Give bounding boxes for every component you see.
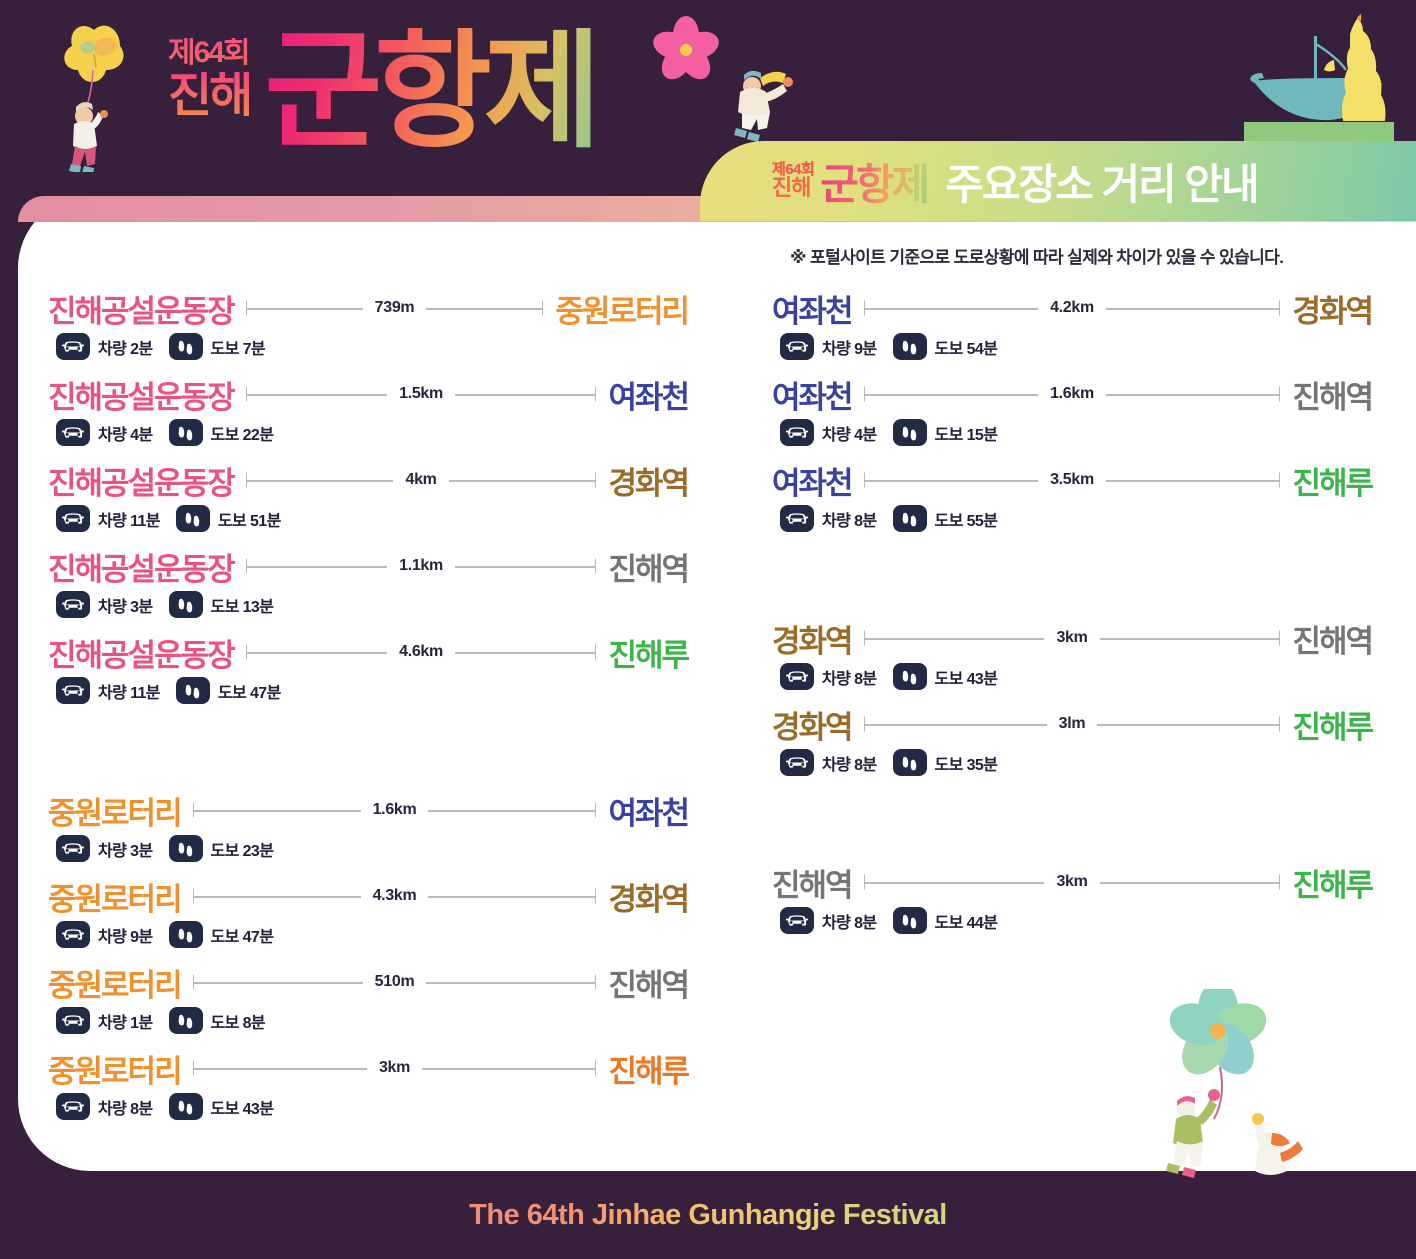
route-row: 여좌천4.2km경화역차량 9분도보 54분 — [772, 286, 1372, 372]
mode-car: 차량 8분 — [780, 505, 877, 532]
route-origin: 진해공설운동장 — [48, 630, 234, 675]
main-title: 제64회 진해 군항제 — [168, 28, 594, 156]
footprints-icon — [183, 511, 202, 527]
mode-car: 차량 1분 — [56, 1007, 153, 1034]
walk-duration: 도보 51분 — [218, 507, 281, 531]
car-badge — [56, 1007, 90, 1034]
route-origin: 중원로터리 — [48, 874, 181, 919]
route-distance: 3lm — [1047, 715, 1098, 733]
car-badge — [56, 1093, 90, 1120]
mode-car: 차량 11분 — [56, 677, 160, 704]
poster-root: 제64회 진해 군항제 제64회 진해 군항제 주요장소 거리 안내 ※ 포털사… — [0, 0, 1416, 1259]
route-destination: 진해루 — [608, 630, 688, 675]
route-distance: 739m — [363, 299, 427, 317]
car-duration: 차량 11분 — [98, 507, 160, 531]
walk-badge — [893, 749, 927, 776]
walk-duration: 도보 47분 — [211, 923, 274, 947]
turtle-ship-icon — [1244, 14, 1394, 149]
mode-walk: 도보 54분 — [893, 333, 998, 360]
car-icon — [786, 669, 808, 684]
title-gunhangje: 군항제 — [264, 28, 593, 156]
route-distance: 3km — [367, 1059, 422, 1077]
footer: The 64th Jinhae Gunhangje Festival — [0, 1171, 1416, 1259]
footprints-icon — [176, 927, 195, 943]
car-icon — [62, 597, 84, 612]
walk-duration: 도보 8분 — [211, 1009, 266, 1033]
walk-badge — [893, 663, 927, 690]
walk-badge — [169, 1093, 203, 1120]
route-destination: 중원로터리 — [555, 286, 688, 331]
route-row: 진해공설운동장1.1km진해역차량 3분도보 13분 — [48, 544, 688, 630]
footprints-icon — [900, 511, 919, 527]
route-distance: 4.6km — [387, 643, 455, 661]
car-badge — [780, 663, 814, 690]
route-row: 중원로터리3km진해루차량 8분도보 43분 — [48, 1046, 688, 1132]
mode-car: 차량 9분 — [56, 921, 153, 948]
disclaimer-note: ※ 포털사이트 기준으로 도로상황에 따라 실제와 차이가 있을 수 있습니다. — [790, 243, 1283, 268]
walk-duration: 도보 44분 — [935, 909, 998, 933]
route-distance-line: 1.5km — [246, 383, 597, 405]
walk-badge — [176, 677, 210, 704]
car-duration: 차량 8분 — [822, 751, 877, 775]
route-distance: 510m — [363, 973, 427, 991]
route-destination: 진해루 — [1292, 458, 1372, 503]
route-destination: 여좌천 — [608, 788, 688, 833]
route-distance: 1.1km — [387, 557, 455, 575]
route-origin: 진해공설운동장 — [48, 458, 234, 503]
route-row: 경화역3km진해역차량 8분도보 43분 — [772, 616, 1372, 702]
route-distance-line: 4.3km — [193, 885, 597, 907]
walk-badge — [893, 907, 927, 934]
footprints-icon — [176, 597, 195, 613]
car-duration: 차량 4분 — [822, 421, 877, 445]
car-badge — [56, 835, 90, 862]
car-duration: 차량 8분 — [822, 507, 877, 531]
footprints-icon — [176, 841, 195, 857]
footprints-icon — [900, 339, 919, 355]
car-icon — [62, 339, 84, 354]
mode-walk: 도보 22분 — [169, 419, 274, 446]
route-destination: 진해역 — [1292, 616, 1372, 661]
car-duration: 차량 3분 — [98, 837, 153, 861]
walk-duration: 도보 43분 — [211, 1095, 274, 1119]
car-icon — [62, 1013, 84, 1028]
route-destination: 여좌천 — [608, 372, 688, 417]
route-distance: 3km — [1044, 873, 1099, 891]
route-origin: 진해공설운동장 — [48, 544, 234, 589]
route-row: 진해공설운동장4km경화역차량 11분도보 51분 — [48, 458, 688, 544]
car-badge — [780, 907, 814, 934]
route-distance: 1.6km — [1038, 385, 1106, 403]
route-destination: 경화역 — [608, 458, 688, 503]
car-icon — [62, 841, 84, 856]
car-duration: 차량 9분 — [98, 923, 153, 947]
mode-walk: 도보 51분 — [176, 505, 281, 532]
car-duration: 차량 8분 — [98, 1095, 153, 1119]
route-distance-line: 3lm — [864, 713, 1281, 735]
route-distance-line: 510m — [193, 971, 597, 993]
walk-badge — [893, 333, 927, 360]
route-destination: 경화역 — [608, 874, 688, 919]
walk-duration: 도보 55분 — [935, 507, 998, 531]
car-icon — [786, 425, 808, 440]
route-distance-line: 4.6km — [246, 641, 597, 663]
route-row: 진해공설운동장4.6km진해루차량 11분도보 47분 — [48, 630, 688, 716]
walk-badge — [893, 419, 927, 446]
route-origin: 경화역 — [772, 616, 852, 661]
title-edition: 제64회 — [168, 38, 250, 68]
route-distance-line: 1.6km — [864, 383, 1281, 405]
mode-car: 차량 8분 — [780, 907, 877, 934]
mode-car: 차량 8분 — [780, 749, 877, 776]
walk-duration: 도보 43분 — [935, 665, 998, 689]
banner-logo: 제64회 진해 군항제 — [772, 151, 927, 212]
footprints-icon — [176, 339, 195, 355]
walk-duration: 도보 54분 — [935, 335, 998, 359]
route-distance-line: 1.6km — [193, 799, 597, 821]
mode-car: 차량 3분 — [56, 591, 153, 618]
car-badge — [780, 333, 814, 360]
mode-walk: 도보 43분 — [893, 663, 998, 690]
footprints-icon — [900, 669, 919, 685]
footprints-icon — [176, 1099, 195, 1115]
car-icon — [786, 913, 808, 928]
route-distance: 4.2km — [1038, 299, 1106, 317]
car-badge — [56, 921, 90, 948]
mode-car: 차량 11분 — [56, 505, 160, 532]
route-origin: 진해공설운동장 — [48, 286, 234, 331]
car-icon — [62, 927, 84, 942]
car-icon — [62, 425, 84, 440]
car-icon — [786, 511, 808, 526]
route-origin: 중원로터리 — [48, 960, 181, 1005]
route-row: 여좌천1.6km진해역차량 4분도보 15분 — [772, 372, 1372, 458]
route-row: 중원로터리1.6km여좌천차량 3분도보 23분 — [48, 788, 688, 874]
route-destination: 진해역 — [1292, 372, 1372, 417]
car-badge — [56, 591, 90, 618]
walk-badge — [176, 505, 210, 532]
route-origin: 여좌천 — [772, 286, 852, 331]
title-jinhae: 진해 — [168, 72, 250, 120]
route-row: 진해역3km진해루차량 8분도보 44분 — [772, 860, 1372, 946]
car-icon — [786, 755, 808, 770]
route-row: 중원로터리4.3km경화역차량 9분도보 47분 — [48, 874, 688, 960]
route-distance: 4.3km — [361, 887, 429, 905]
route-distance-line: 3km — [864, 627, 1281, 649]
mode-car: 차량 8분 — [780, 663, 877, 690]
mode-car: 차량 4분 — [780, 419, 877, 446]
route-destination: 진해루 — [608, 1046, 688, 1091]
car-badge — [780, 505, 814, 532]
route-destination: 경화역 — [1292, 286, 1372, 331]
walk-badge — [169, 1007, 203, 1034]
route-origin: 경화역 — [772, 702, 852, 747]
walk-duration: 도보 15분 — [935, 421, 998, 445]
mode-walk: 도보 47분 — [176, 677, 281, 704]
car-duration: 차량 11분 — [98, 679, 160, 703]
walk-badge — [893, 505, 927, 532]
car-duration: 차량 1분 — [98, 1009, 153, 1033]
mode-car: 차량 2분 — [56, 333, 153, 360]
car-duration: 차량 3분 — [98, 593, 153, 617]
mode-walk: 도보 43분 — [169, 1093, 274, 1120]
route-destination: 진해루 — [1292, 860, 1372, 905]
route-distance-line: 3km — [193, 1057, 597, 1079]
route-distance: 1.6km — [361, 801, 429, 819]
mode-car: 차량 4분 — [56, 419, 153, 446]
mode-car: 차량 3분 — [56, 835, 153, 862]
car-icon — [62, 683, 84, 698]
route-origin: 여좌천 — [772, 372, 852, 417]
car-badge — [56, 419, 90, 446]
walk-duration: 도보 35분 — [935, 751, 998, 775]
routes-column-left: 진해공설운동장739m중원로터리차량 2분도보 7분진해공설운동장1.5km여좌… — [48, 286, 688, 1132]
route-row: 진해공설운동장1.5km여좌천차량 4분도보 22분 — [48, 372, 688, 458]
car-badge — [780, 419, 814, 446]
footprints-icon — [900, 913, 919, 929]
route-distance-line: 739m — [246, 297, 544, 319]
car-icon — [786, 339, 808, 354]
section-banner: 제64회 진해 군항제 주요장소 거리 안내 — [700, 141, 1416, 221]
footprints-icon — [183, 683, 202, 699]
route-origin: 중원로터리 — [48, 1046, 181, 1091]
car-duration: 차량 9분 — [822, 335, 877, 359]
route-distance-line: 3.5km — [864, 469, 1281, 491]
route-distance: 3.5km — [1038, 471, 1106, 489]
car-duration: 차량 2분 — [98, 335, 153, 359]
route-distance: 1.5km — [387, 385, 455, 403]
mode-walk: 도보 15분 — [893, 419, 998, 446]
car-duration: 차량 8분 — [822, 665, 877, 689]
car-duration: 차량 4분 — [98, 421, 153, 445]
banner-logo-jinhae: 진해 — [772, 178, 814, 199]
footprints-icon — [900, 425, 919, 441]
mode-car: 차량 8분 — [56, 1093, 153, 1120]
route-origin: 진해공설운동장 — [48, 372, 234, 417]
routes-column-right: 여좌천4.2km경화역차량 9분도보 54분여좌천1.6km진해역차량 4분도보… — [772, 286, 1372, 946]
route-row: 진해공설운동장739m중원로터리차량 2분도보 7분 — [48, 286, 688, 372]
walk-duration: 도보 7분 — [211, 335, 266, 359]
route-destination: 진해루 — [1292, 702, 1372, 747]
route-destination: 진해역 — [608, 544, 688, 589]
walk-badge — [169, 921, 203, 948]
flying-person-icon — [700, 60, 810, 150]
mode-walk: 도보 23분 — [169, 835, 274, 862]
mode-walk: 도보 55분 — [893, 505, 998, 532]
mode-car: 차량 9분 — [780, 333, 877, 360]
walk-badge — [169, 333, 203, 360]
footprints-icon — [176, 1013, 195, 1029]
walk-duration: 도보 22분 — [211, 421, 274, 445]
mode-walk: 도보 35분 — [893, 749, 998, 776]
route-origin: 진해역 — [772, 860, 852, 905]
mode-walk: 도보 7분 — [169, 333, 266, 360]
banner-logo-gunhangje: 군항제 — [820, 151, 927, 212]
route-origin: 여좌천 — [772, 458, 852, 503]
car-badge — [56, 333, 90, 360]
mode-walk: 도보 8분 — [169, 1007, 266, 1034]
mode-walk: 도보 13분 — [169, 591, 274, 618]
car-icon — [62, 511, 84, 526]
route-distance-line: 1.1km — [246, 555, 597, 577]
car-badge — [56, 677, 90, 704]
walk-duration: 도보 47분 — [218, 679, 281, 703]
route-row: 경화역3lm진해루차량 8분도보 35분 — [772, 702, 1372, 788]
route-distance-line: 4km — [246, 469, 597, 491]
route-origin: 중원로터리 — [48, 788, 181, 833]
car-badge — [56, 505, 90, 532]
route-row: 중원로터리510m진해역차량 1분도보 8분 — [48, 960, 688, 1046]
route-row: 여좌천3.5km진해루차량 8분도보 55분 — [772, 458, 1372, 544]
car-badge — [780, 749, 814, 776]
footprints-icon — [900, 755, 919, 771]
route-distance-line: 3km — [864, 871, 1281, 893]
walk-badge — [169, 419, 203, 446]
walk-badge — [169, 591, 203, 618]
mode-walk: 도보 44분 — [893, 907, 998, 934]
footer-text: The 64th Jinhae Gunhangje Festival — [469, 1199, 947, 1232]
walk-duration: 도보 23분 — [211, 837, 274, 861]
route-distance-line: 4.2km — [864, 297, 1281, 319]
footprints-icon — [176, 425, 195, 441]
mode-walk: 도보 47분 — [169, 921, 274, 948]
walk-badge — [169, 835, 203, 862]
car-icon — [62, 1099, 84, 1114]
route-distance: 4km — [393, 471, 448, 489]
route-distance: 3km — [1044, 629, 1099, 647]
balloon-flower-icon — [1146, 989, 1356, 1179]
car-duration: 차량 8분 — [822, 909, 877, 933]
walk-duration: 도보 13분 — [211, 593, 274, 617]
route-destination: 진해역 — [608, 960, 688, 1005]
banner-title: 주요장소 거리 안내 — [945, 151, 1257, 212]
